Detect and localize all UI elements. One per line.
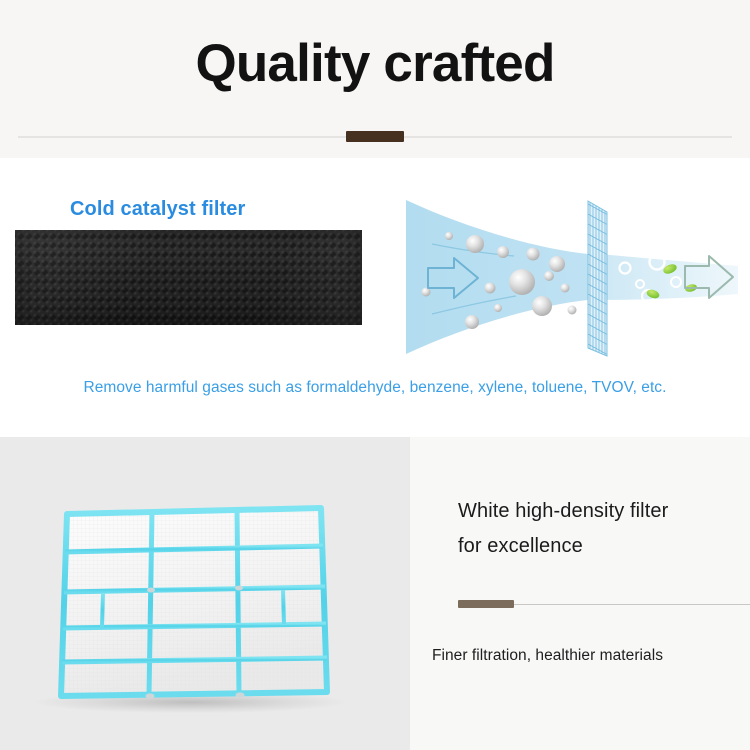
white-filter-subcaption: Finer filtration, healthier materials	[432, 647, 663, 665]
white-filter-image-panel	[0, 437, 410, 750]
page-title: Quality crafted	[0, 33, 750, 94]
clean-airflow-stream	[600, 254, 738, 300]
white-filter-text-panel: White high-density filter for excellence…	[410, 437, 750, 750]
filter-sheen-overlay	[15, 230, 362, 325]
header-banner: Quality crafted	[0, 0, 750, 158]
mesh-filter-panel	[588, 196, 608, 361]
white-filter-heading: White high-density filter for excellence	[458, 494, 748, 564]
white-high-density-mesh-filter-image	[53, 500, 335, 700]
white-filter-heading-line-1: White high-density filter	[458, 494, 748, 529]
white-filter-heading-line-2: for excellence	[458, 529, 748, 564]
cold-catalyst-section: Cold catalyst filter	[0, 158, 750, 437]
header-accent-bar	[346, 131, 404, 142]
white-filter-section: White high-density filter for excellence…	[0, 437, 750, 750]
cold-catalyst-caption: Remove harmful gases such as formaldehyd…	[0, 379, 750, 397]
white-filter-accent-bar	[458, 600, 514, 608]
cold-catalyst-honeycomb-filter-image	[15, 230, 362, 325]
dirty-airflow-cone	[406, 200, 588, 354]
airflow-filtration-diagram	[402, 196, 742, 361]
product-detail-page: Quality crafted Cold catalyst filter	[0, 0, 750, 750]
cold-catalyst-title: Cold catalyst filter	[70, 198, 245, 221]
